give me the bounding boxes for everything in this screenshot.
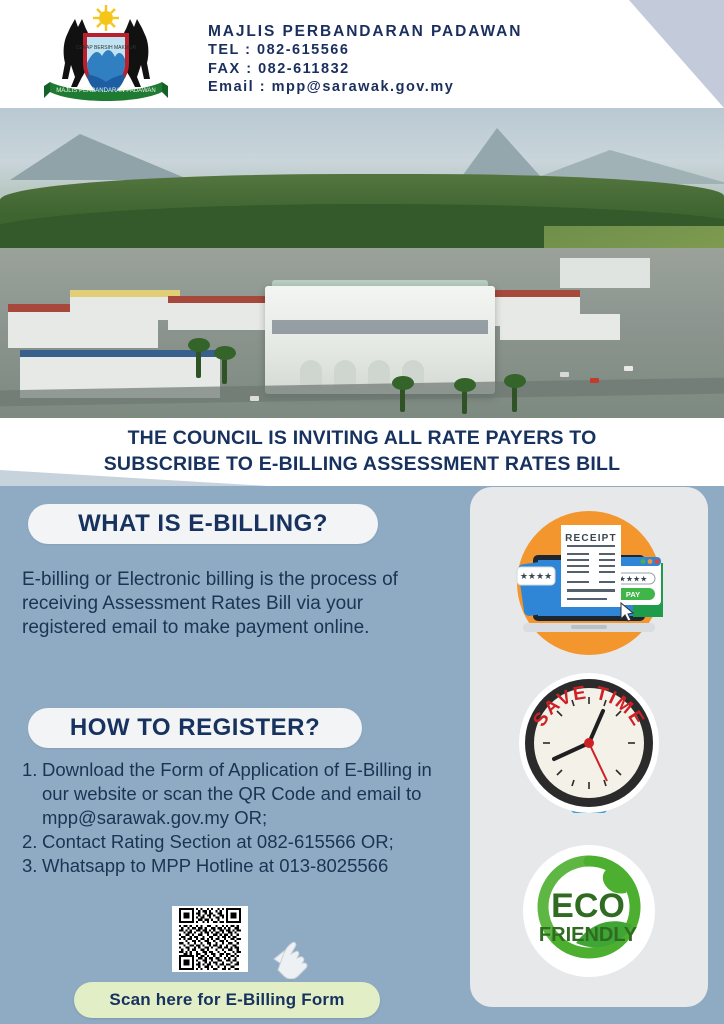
step-number: 2.	[22, 830, 42, 854]
padawan-council-coat-of-arms-icon: CEKAP BERSIH MAKMUR MAJLIS PERBANDARAN P…	[36, 2, 176, 106]
step-text: Contact Rating Section at 082-615566 OR;	[42, 830, 442, 854]
list-item: 3. Whatsapp to MPP Hotline at 013-802556…	[22, 854, 442, 878]
pin-dots: ★★★★	[619, 575, 648, 584]
pointing-hand-cursor-icon	[270, 933, 316, 979]
what-is-ebilling-heading: WHAT IS E-BILLING?	[28, 504, 378, 544]
poster: CEKAP BERSIH MAKMUR MAJLIS PERBANDARAN P…	[0, 0, 724, 1024]
car	[624, 366, 633, 371]
qr-code[interactable]	[172, 906, 248, 972]
headline-line-1: THE COUNCIL IS INVITING ALL RATE PAYERS …	[0, 425, 724, 451]
headline-line-2: SUBSCRIBE TO E-BILLING ASSESSMENT RATES …	[0, 451, 724, 477]
header-contact-block: MAJLIS PERBANDARAN PADAWAN TEL : 082-615…	[208, 22, 522, 97]
organization-name: MAJLIS PERBANDARAN PADAWAN	[208, 22, 522, 41]
shophouse-row	[500, 314, 620, 340]
building-far	[560, 258, 650, 288]
shophouse-roof-blue	[20, 350, 220, 357]
list-item: 1. Download the Form of Application of E…	[22, 758, 442, 830]
palm-crown	[454, 378, 476, 392]
how-to-register-heading: HOW TO REGISTER?	[28, 708, 362, 748]
svg-text:★★★★: ★★★★	[520, 571, 552, 581]
pay-button-label: PAY	[626, 590, 640, 599]
headline-band: THE COUNCIL IS INVITING ALL RATE PAYERS …	[0, 418, 724, 486]
shophouse-row	[70, 294, 180, 320]
eco-friendly-badge-illustration: ECO FRIENDLY	[470, 839, 708, 999]
car	[560, 372, 569, 377]
telephone-line: TEL : 082-615566	[208, 41, 522, 60]
step-text: Whatsapp to MPP Hotline at 013-8025566	[42, 854, 442, 878]
corner-accent-shape	[629, 0, 724, 108]
register-steps-list: 1. Download the Form of Application of E…	[22, 758, 442, 878]
palm-crown	[504, 374, 526, 388]
illustration-panel: ★★★★ PAY ★★★★ RECEIPT	[470, 487, 708, 1007]
mountain-left	[10, 134, 190, 180]
email-line: Email : mpp@sarawak.gov.my	[208, 78, 522, 97]
what-is-ebilling-paragraph: E-billing or Electronic billing is the p…	[22, 568, 442, 640]
step-text: Download the Form of Application of E-Bi…	[42, 758, 442, 830]
council-window-band	[272, 320, 488, 334]
palm-crown	[214, 346, 236, 360]
car	[590, 378, 599, 383]
page-title: THE COUNCIL IS INVITING ALL RATE PAYERS …	[0, 418, 724, 477]
scan-for-form-button[interactable]: Scan here for E-Billing Form	[74, 982, 380, 1018]
palm-crown	[392, 376, 414, 390]
save-time-clock-illustration: SAVE TIME	[470, 667, 708, 837]
palm-crown	[188, 338, 210, 352]
aerial-town-photo	[0, 108, 724, 418]
fax-line: FAX : 082-611832	[208, 60, 522, 79]
list-item: 2. Contact Rating Section at 082-615566 …	[22, 830, 442, 854]
svg-text:MAJLIS PERBANDARAN PADAWAN: MAJLIS PERBANDARAN PADAWAN	[56, 88, 155, 94]
header: CEKAP BERSIH MAKMUR MAJLIS PERBANDARAN P…	[0, 0, 724, 108]
shophouse-roof-yellow	[70, 290, 180, 297]
receipt-label: RECEIPT	[565, 533, 617, 544]
friendly-label: FRIENDLY	[539, 924, 638, 946]
step-number: 3.	[22, 854, 42, 878]
svg-text:CEKAP BERSIH MAKMUR: CEKAP BERSIH MAKMUR	[76, 45, 137, 51]
online-payment-receipt-illustration: ★★★★ PAY ★★★★ RECEIPT	[470, 499, 708, 667]
car	[250, 396, 259, 401]
eco-label: ECO	[551, 887, 625, 925]
step-number: 1.	[22, 758, 42, 782]
